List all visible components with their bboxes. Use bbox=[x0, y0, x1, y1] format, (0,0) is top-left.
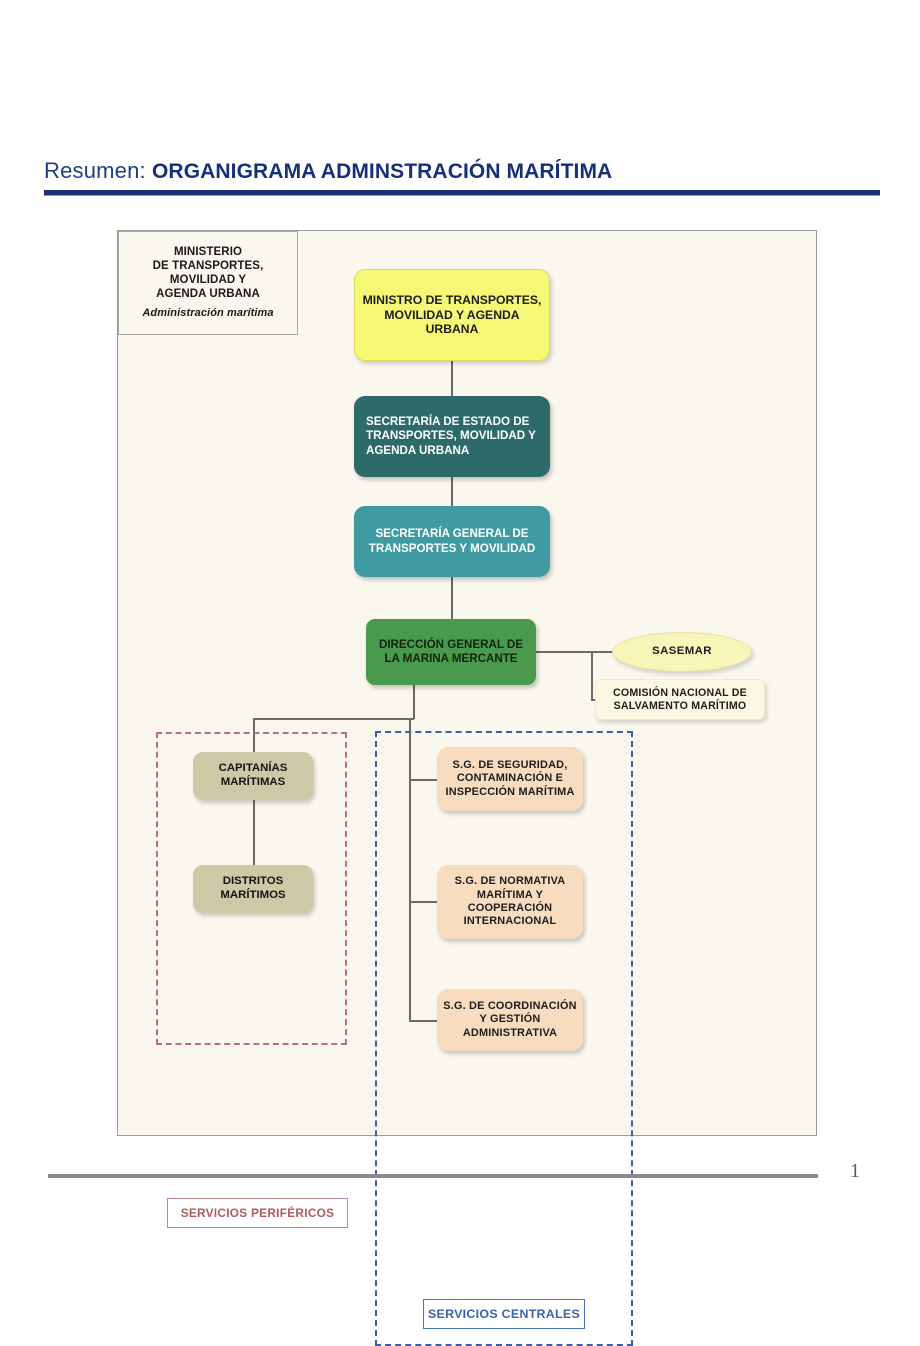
footer-divider bbox=[48, 1174, 818, 1178]
label-servicios-centrales: SERVICIOS CENTRALES bbox=[423, 1299, 585, 1329]
ministry-line-2: DE TRANSPORTES, bbox=[153, 259, 264, 273]
node-secretaria-estado[interactable]: SECRETARÍA DE ESTADO DE TRANSPORTES, MOV… bbox=[354, 396, 550, 477]
page-title-prefix: Resumen: bbox=[44, 158, 146, 183]
connector-dgmm-right-stub bbox=[536, 651, 592, 653]
connector-secestado-to-secgeneral bbox=[451, 477, 453, 506]
node-distritos-maritimos[interactable]: DISTRITOS MARÍTIMOS bbox=[193, 865, 313, 913]
ministry-line-1: MINISTERIO bbox=[174, 245, 242, 259]
connector-dgmm-right-trunk bbox=[591, 651, 593, 700]
page-number: 1 bbox=[850, 1160, 880, 1183]
node-sg-normativa[interactable]: S.G. DE NORMATIVA MARÍTIMA Y COOPERACIÓN… bbox=[437, 865, 583, 939]
node-ministro[interactable]: MINISTRO DE TRANSPORTES, MOVILIDAD Y AGE… bbox=[354, 269, 550, 361]
connector-secgeneral-to-dgmm bbox=[451, 577, 453, 619]
connector-dgmm-crossbar bbox=[253, 718, 414, 720]
node-secretaria-general[interactable]: SECRETARÍA GENERAL DE TRANSPORTES Y MOVI… bbox=[354, 506, 550, 577]
node-direccion-general-marina-mercante[interactable]: DIRECCIÓN GENERAL DE LA MARINA MERCANTE bbox=[366, 619, 536, 685]
node-comision-nacional-salvamento[interactable]: COMISIÓN NACIONAL DE SALVAMENTO MARÍTIMO bbox=[595, 679, 765, 720]
node-capitanias-maritimas[interactable]: CAPITANÍAS MARÍTIMAS bbox=[193, 752, 313, 800]
header-divider bbox=[44, 190, 880, 196]
organigrama-diagram: MINISTERIO DE TRANSPORTES, MOVILIDAD Y A… bbox=[117, 230, 817, 1136]
ministry-line-3: MOVILIDAD Y bbox=[170, 273, 246, 287]
label-servicios-perifericos: SERVICIOS PERIFÉRICOS bbox=[167, 1198, 348, 1228]
ministry-subtitle: Administración marítima bbox=[142, 307, 273, 320]
connector-ministro-to-secestado bbox=[451, 361, 453, 396]
ministry-label-box: MINISTERIO DE TRANSPORTES, MOVILIDAD Y A… bbox=[118, 231, 298, 335]
connector-dgmm-down bbox=[413, 685, 415, 719]
page-title-main: ORGANIGRAMA ADMINSTRACIÓN MARÍTIMA bbox=[152, 160, 612, 183]
node-sg-coordinacion[interactable]: S.G. DE COORDINACIÓN Y GESTIÓN ADMINISTR… bbox=[437, 989, 583, 1051]
node-sasemar[interactable]: SASEMAR bbox=[612, 632, 752, 672]
node-sg-seguridad[interactable]: S.G. DE SEGURIDAD, CONTAMINACIÓN E INSPE… bbox=[437, 747, 583, 811]
footer-cut-text bbox=[118, 1191, 808, 1200]
page-title: Resumen: ORGANIGRAMA ADMINSTRACIÓN MARÍT… bbox=[44, 156, 880, 187]
ministry-line-4: AGENDA URBANA bbox=[156, 287, 260, 301]
